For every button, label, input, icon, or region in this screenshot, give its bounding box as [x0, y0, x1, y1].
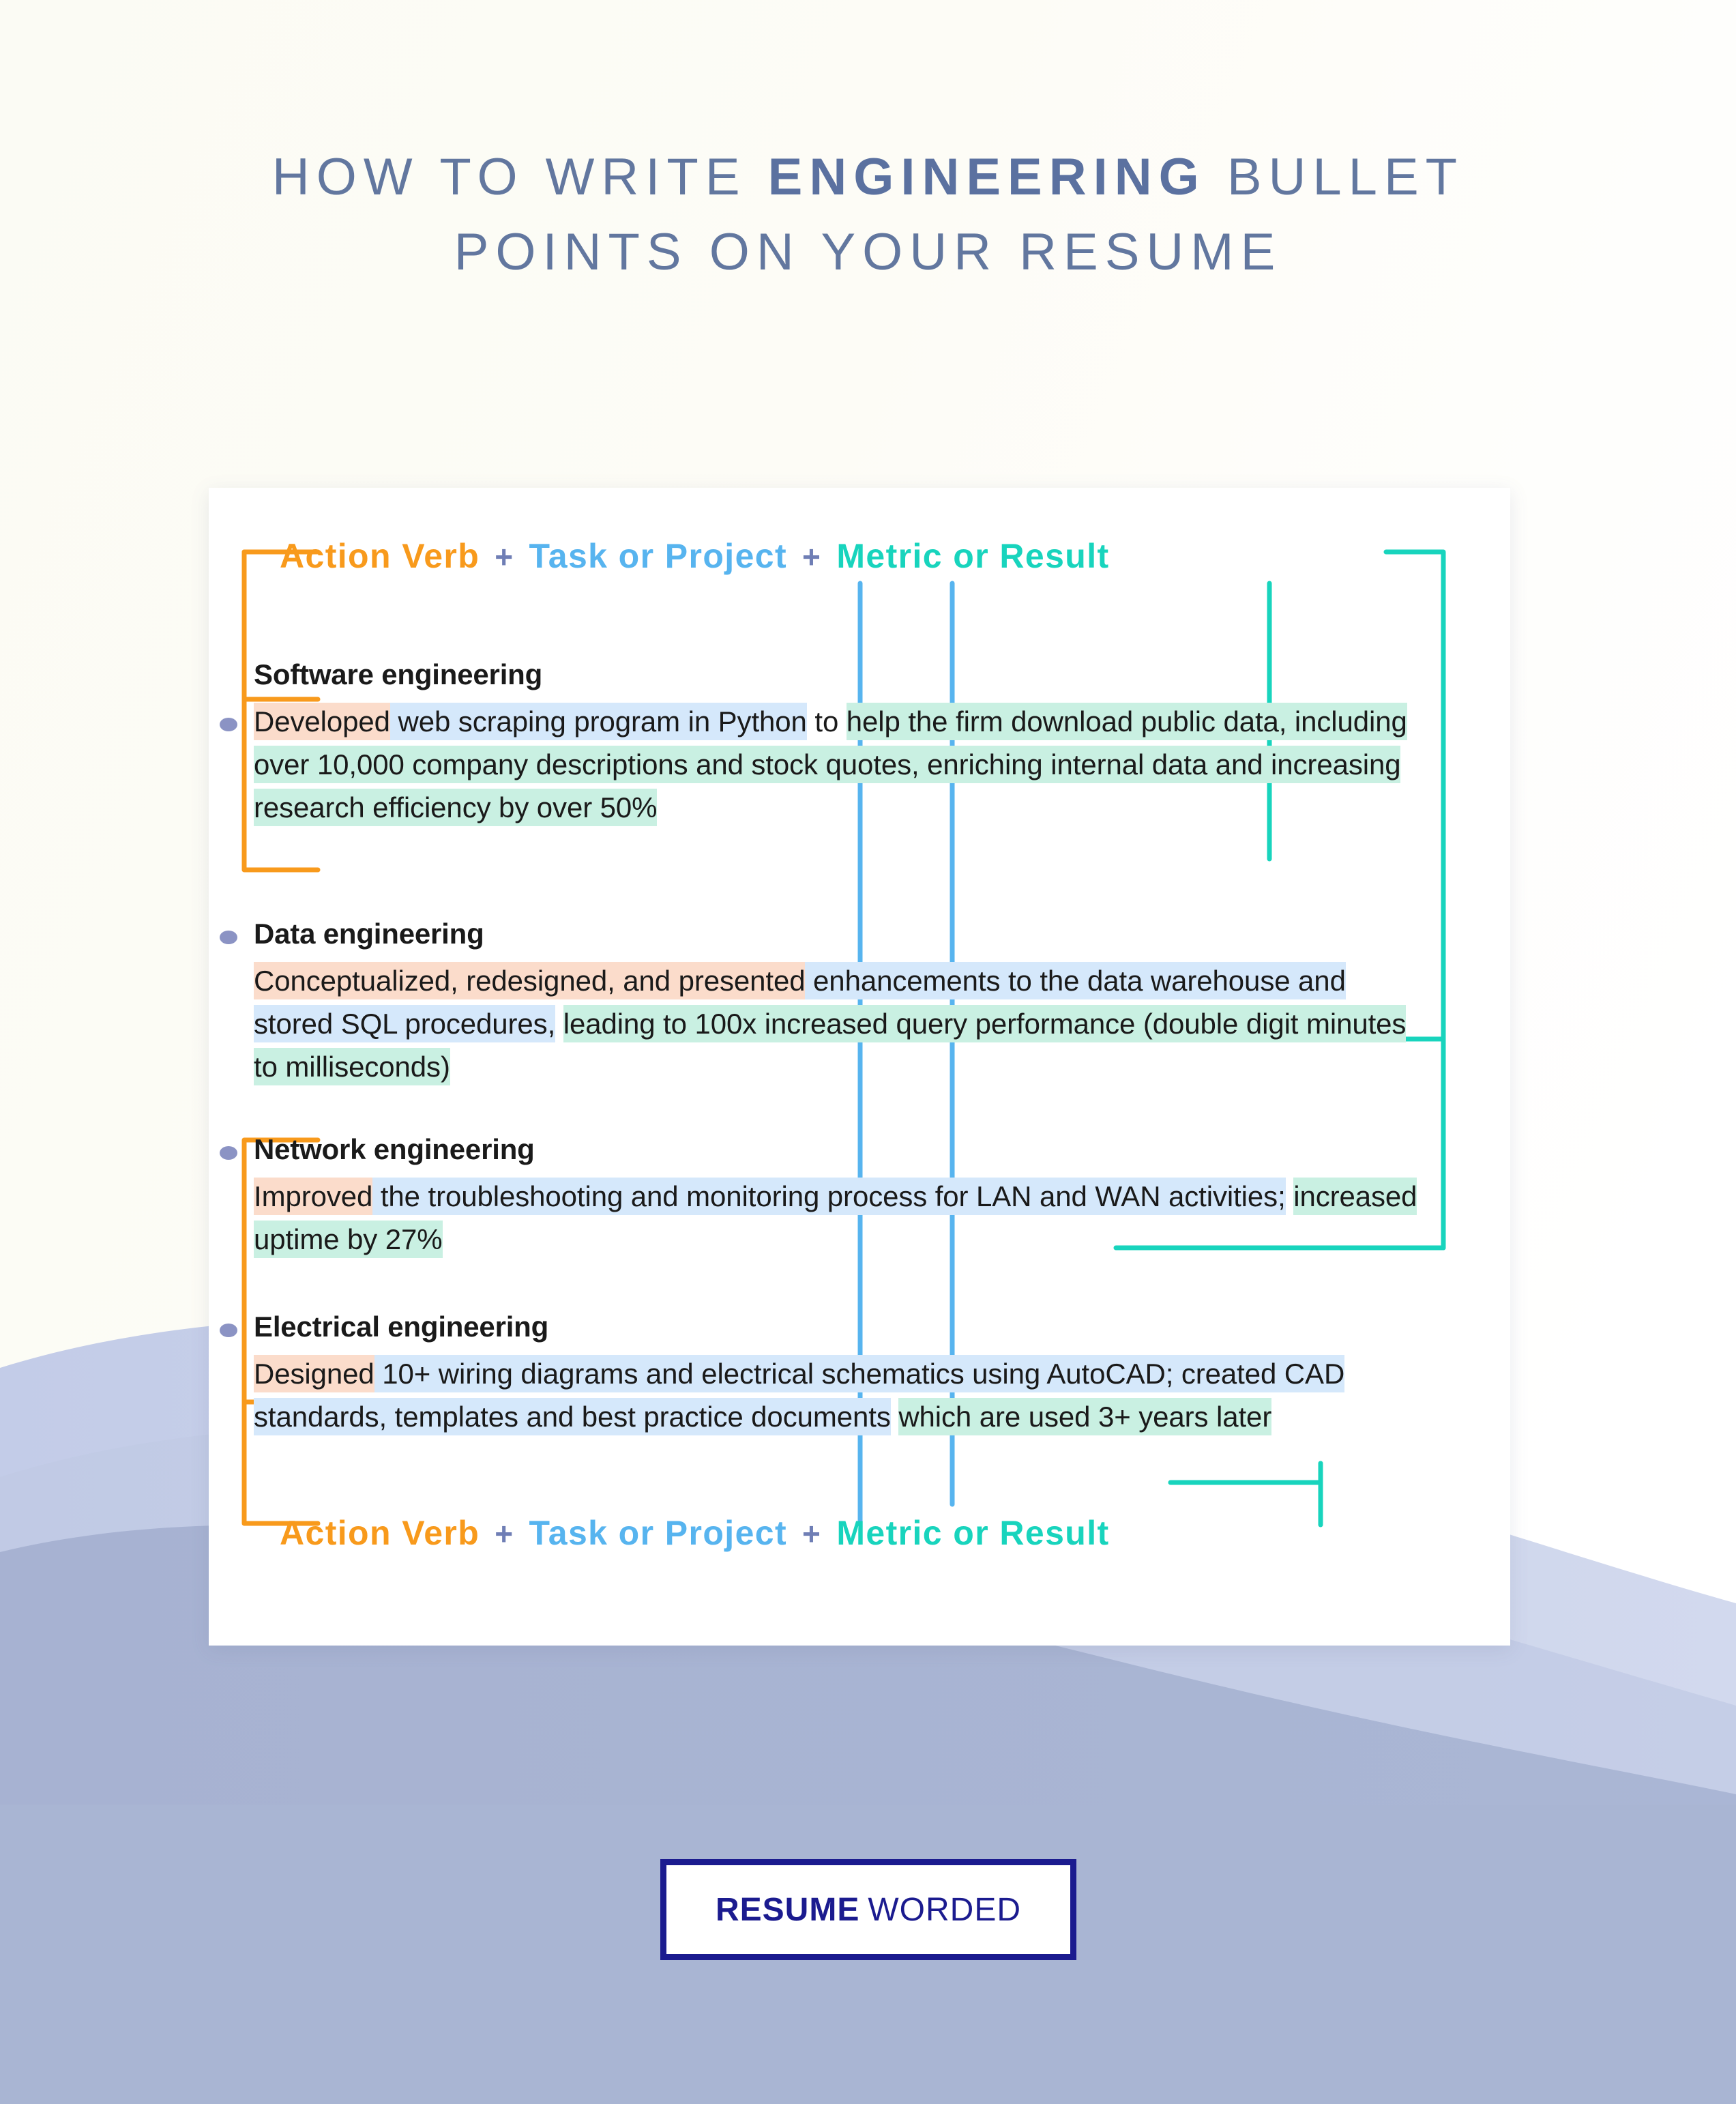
legend-plus-2: +	[787, 538, 836, 575]
legend-action-verb: Action Verb	[280, 536, 480, 576]
legend-metric-or-result: Metric or Result	[836, 1513, 1109, 1553]
title-part-strong: ENGINEERING	[768, 148, 1206, 206]
highlight-task-or-project: the troubleshooting and monitoring proce…	[372, 1178, 1285, 1215]
legend-plus-2: +	[787, 1515, 836, 1552]
legend-task-or-project: Task or Project	[529, 1513, 788, 1553]
legend-task-or-project: Task or Project	[529, 536, 788, 576]
page-title: HOW TO WRITE ENGINEERING BULLET POINTS O…	[0, 140, 1736, 290]
bullet-block-network-engineering: Network engineering Improved the trouble…	[254, 1135, 1427, 1261]
legend-top: Action Verb + Task or Project + Metric o…	[280, 536, 1110, 576]
logo-text: RESUMEWORDED	[716, 1891, 1021, 1929]
highlight-task-or-project: web scraping program in Python	[390, 703, 807, 740]
bullet-block-data-engineering: Data engineering Conceptualized, redesig…	[254, 920, 1427, 1088]
highlight-action-verb: Developed	[254, 703, 390, 740]
page-title-line-2: POINTS ON YOUR RESUME	[0, 215, 1736, 290]
bullet-text: Developed web scraping program in Python…	[254, 700, 1427, 829]
bullet-text-gap	[1286, 1180, 1294, 1212]
bullet-text-gap	[555, 1008, 563, 1040]
bullet-heading: Network engineering	[254, 1135, 1427, 1164]
legend-metric-or-result: Metric or Result	[836, 536, 1109, 576]
highlight-action-verb: Designed	[254, 1355, 374, 1392]
legend-bottom: Action Verb + Task or Project + Metric o…	[280, 1513, 1110, 1553]
bullet-text: Designed 10+ wiring diagrams and electri…	[254, 1352, 1427, 1438]
resume-worded-logo[interactable]: RESUMEWORDED	[660, 1859, 1076, 1960]
bullet-heading: Software engineering	[254, 660, 1427, 689]
bullet-text-gap: to	[807, 705, 847, 737]
bullet-heading: Data engineering	[254, 920, 1427, 948]
bullet-dot-icon	[220, 718, 237, 731]
bullet-heading: Electrical engineering	[254, 1313, 1427, 1341]
highlight-metric-or-result: which are used 3+ years later	[898, 1398, 1271, 1435]
highlight-action-verb: Conceptualized, redesigned, and presente…	[254, 962, 805, 999]
logo-word-worded: WORDED	[868, 1892, 1021, 1928]
bullet-block-electrical-engineering: Electrical engineering Designed 10+ wiri…	[254, 1313, 1427, 1438]
logo-word-resume: RESUME	[716, 1892, 859, 1928]
highlight-action-verb: Improved	[254, 1178, 372, 1215]
legend-action-verb: Action Verb	[280, 1513, 480, 1553]
bullet-text: Conceptualized, redesigned, and presente…	[254, 959, 1427, 1088]
bullet-block-software-engineering: Software engineering Developed web scrap…	[254, 660, 1427, 829]
page-title-line-1: HOW TO WRITE ENGINEERING BULLET	[0, 140, 1736, 215]
legend-plus-1: +	[480, 538, 529, 575]
legend-plus-1: +	[480, 1515, 529, 1552]
title-part-pre: HOW TO WRITE	[272, 148, 768, 206]
bullet-dot-icon	[220, 931, 237, 944]
bullet-dot-icon	[220, 1324, 237, 1337]
infographic-page: HOW TO WRITE ENGINEERING BULLET POINTS O…	[0, 0, 1736, 2104]
bullet-text: Improved the troubleshooting and monitor…	[254, 1175, 1427, 1261]
title-part-post: BULLET	[1206, 148, 1464, 206]
bullet-dot-icon	[220, 1146, 237, 1160]
bullet-text-gap	[891, 1401, 899, 1433]
